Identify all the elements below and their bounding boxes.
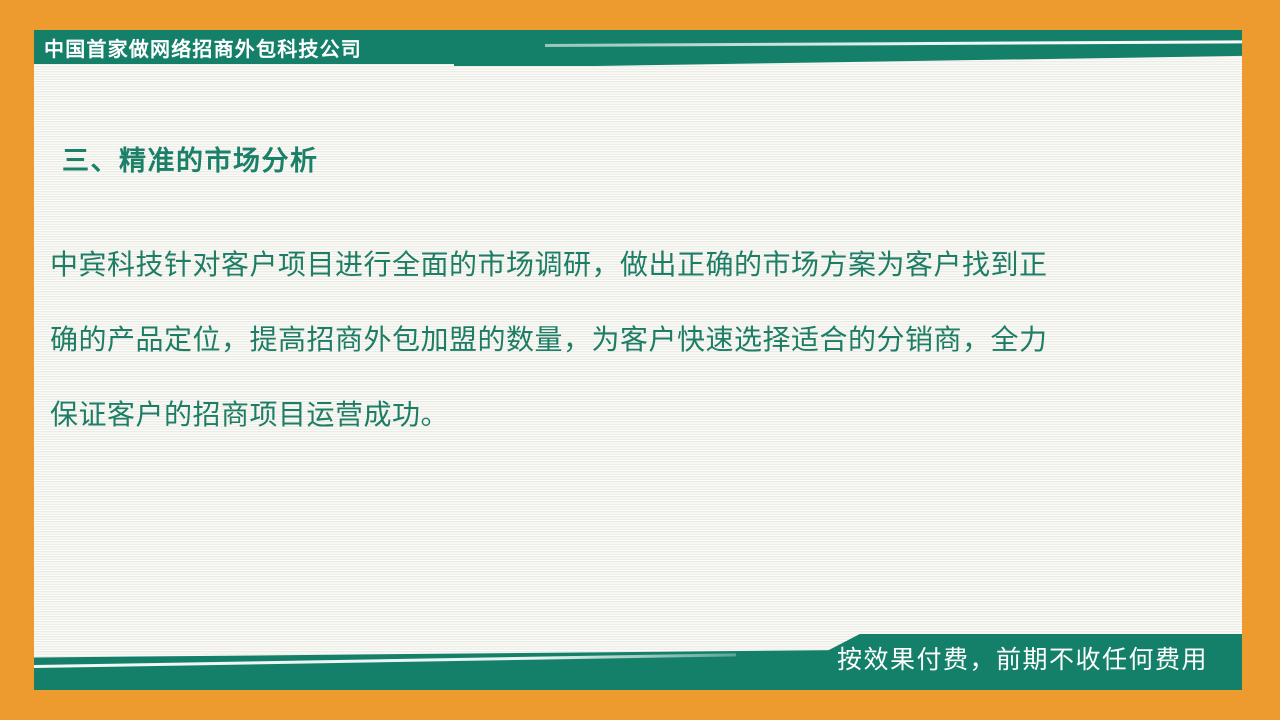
header-wedge-shape: [454, 30, 1242, 66]
footer-tagline: 按效果付费，前期不收任何费用: [837, 640, 1208, 676]
paragraph-line: 确的产品定位，提高招商外包加盟的数量，为客户快速选择适合的分销商，全力: [50, 303, 1180, 378]
header-title: 中国首家做网络招商外包科技公司: [44, 30, 362, 64]
body-paragraph: 中宾科技针对客户项目进行全面的市场调研，做出正确的市场方案为客户找到正 确的产品…: [50, 228, 1180, 453]
slide-content-sheet: 三、精准的市场分析 中宾科技针对客户项目进行全面的市场调研，做出正确的市场方案为…: [34, 30, 1242, 690]
slide-canvas: 三、精准的市场分析 中宾科技针对客户项目进行全面的市场调研，做出正确的市场方案为…: [0, 0, 1280, 720]
footer-accent-line: [34, 653, 736, 668]
header-accent-line: [545, 40, 1242, 47]
paragraph-line: 保证客户的招商项目运营成功。: [50, 378, 1180, 453]
paragraph-line: 中宾科技针对客户项目进行全面的市场调研，做出正确的市场方案为客户找到正: [50, 228, 1180, 303]
section-heading: 三、精准的市场分析: [62, 139, 319, 178]
